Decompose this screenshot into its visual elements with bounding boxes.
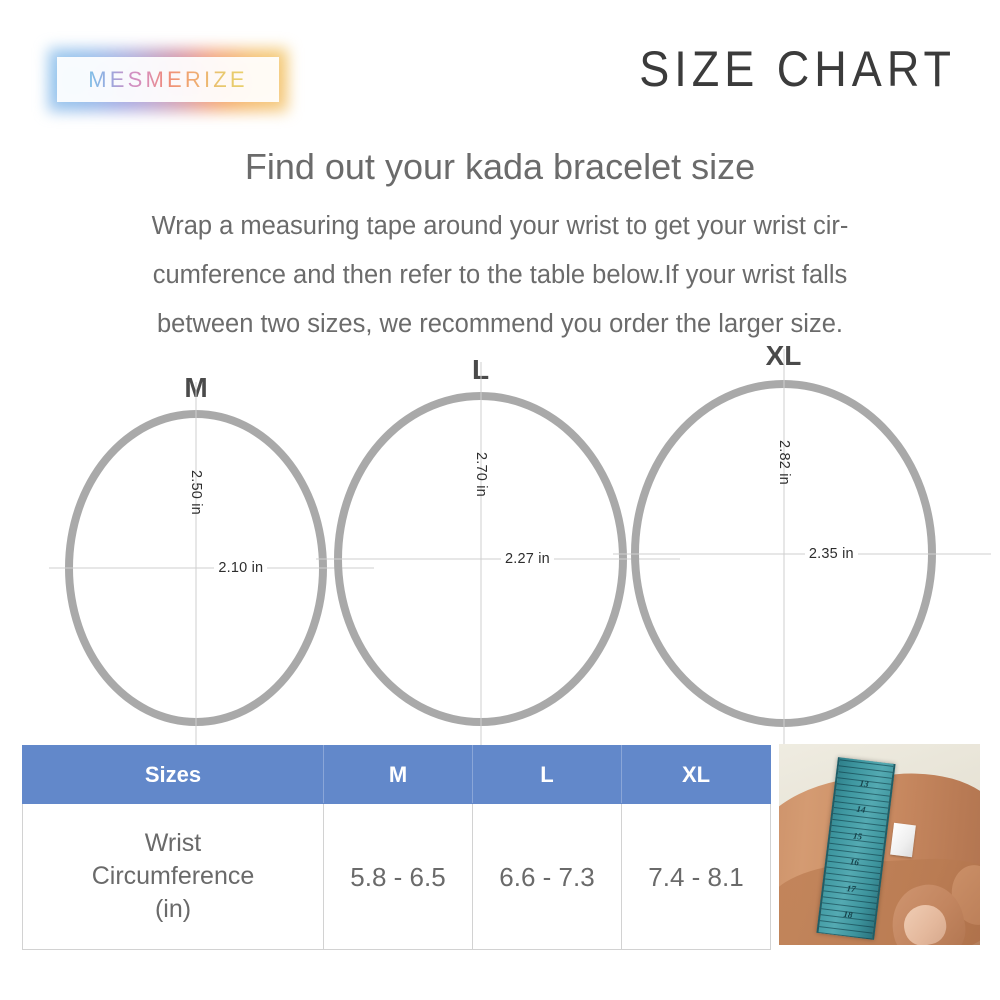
row-label-line-1: Wrist bbox=[24, 827, 322, 860]
row-label-line-2: Circumference bbox=[24, 860, 322, 893]
diagram-height-label-m: 2.50 in bbox=[188, 470, 204, 515]
row-label-wrist-circumference: Wrist Circumference (in) bbox=[23, 804, 324, 950]
headline: Find out your kada bracelet size bbox=[0, 146, 1000, 188]
diagram-height-label-l: 2.70 in bbox=[473, 452, 489, 497]
table-row: Wrist Circumference (in) 5.8 - 6.5 6.6 -… bbox=[23, 804, 771, 950]
horizontal-axis-l bbox=[316, 559, 679, 560]
diagram-width-label-xl: 2.35 in bbox=[805, 546, 858, 562]
cell-l-range: 6.6 - 7.3 bbox=[473, 804, 622, 950]
tape-tick-15: 15 bbox=[830, 828, 885, 845]
intro-paragraph: Wrap a measuring tape around your wrist … bbox=[50, 202, 950, 349]
header-cell-m: M bbox=[324, 746, 473, 804]
tape-tick-18: 18 bbox=[821, 907, 876, 924]
logo-text: MESMERIZE bbox=[88, 67, 248, 93]
size-table: Sizes M L XL Wrist Circumference (in) 5.… bbox=[22, 745, 771, 950]
table-header-row: Sizes M L XL bbox=[23, 746, 771, 804]
page-title: SIZE CHART bbox=[639, 40, 956, 98]
tape-tick-13: 13 bbox=[837, 775, 892, 792]
header-cell-l: L bbox=[473, 746, 622, 804]
horizontal-axis-m bbox=[49, 568, 374, 569]
header-cell-xl: XL bbox=[622, 746, 771, 804]
wrist-measurement-photo: 13 14 15 16 17 18 bbox=[779, 744, 980, 945]
horizontal-axis-xl bbox=[613, 553, 991, 554]
size-table-header: Sizes M L XL bbox=[23, 746, 771, 804]
diagram-width-label-m: 2.10 in bbox=[214, 560, 267, 576]
cell-xl-range: 7.4 - 8.1 bbox=[622, 804, 771, 950]
tape-tick-17: 17 bbox=[824, 880, 879, 897]
header-cell-sizes: Sizes bbox=[23, 746, 324, 804]
intro-line-1: Wrap a measuring tape around your wrist … bbox=[50, 202, 950, 251]
tape-tick-14: 14 bbox=[834, 801, 889, 818]
diagram-width-label-l: 2.27 in bbox=[501, 551, 554, 567]
bracelet-diagram-l: L 2.70 in 2.27 in bbox=[334, 392, 627, 726]
row-label-line-3: (in) bbox=[24, 893, 322, 926]
tape-tick-16: 16 bbox=[827, 854, 882, 871]
bracelet-diagram-m: M 2.50 in 2.10 in bbox=[65, 410, 327, 726]
intro-line-2: cumference and then refer to the table b… bbox=[50, 251, 950, 300]
intro-line-3: between two sizes, we recommend you orde… bbox=[50, 300, 950, 349]
size-chart-page: MESMERIZE SIZE CHART Find out your kada … bbox=[0, 0, 1000, 1000]
logo-box: MESMERIZE bbox=[57, 57, 279, 102]
bracelet-diagrams: M 2.50 in 2.10 in L 2.70 in 2.27 in XL 2… bbox=[0, 345, 1000, 740]
photo-tape-clip bbox=[890, 823, 916, 858]
diagram-height-label-xl: 2.82 in bbox=[776, 440, 792, 485]
brand-logo: MESMERIZE bbox=[48, 48, 288, 112]
size-table-body: Wrist Circumference (in) 5.8 - 6.5 6.6 -… bbox=[23, 804, 771, 950]
bracelet-diagram-xl: XL 2.82 in 2.35 in bbox=[631, 380, 936, 727]
cell-m-range: 5.8 - 6.5 bbox=[324, 804, 473, 950]
